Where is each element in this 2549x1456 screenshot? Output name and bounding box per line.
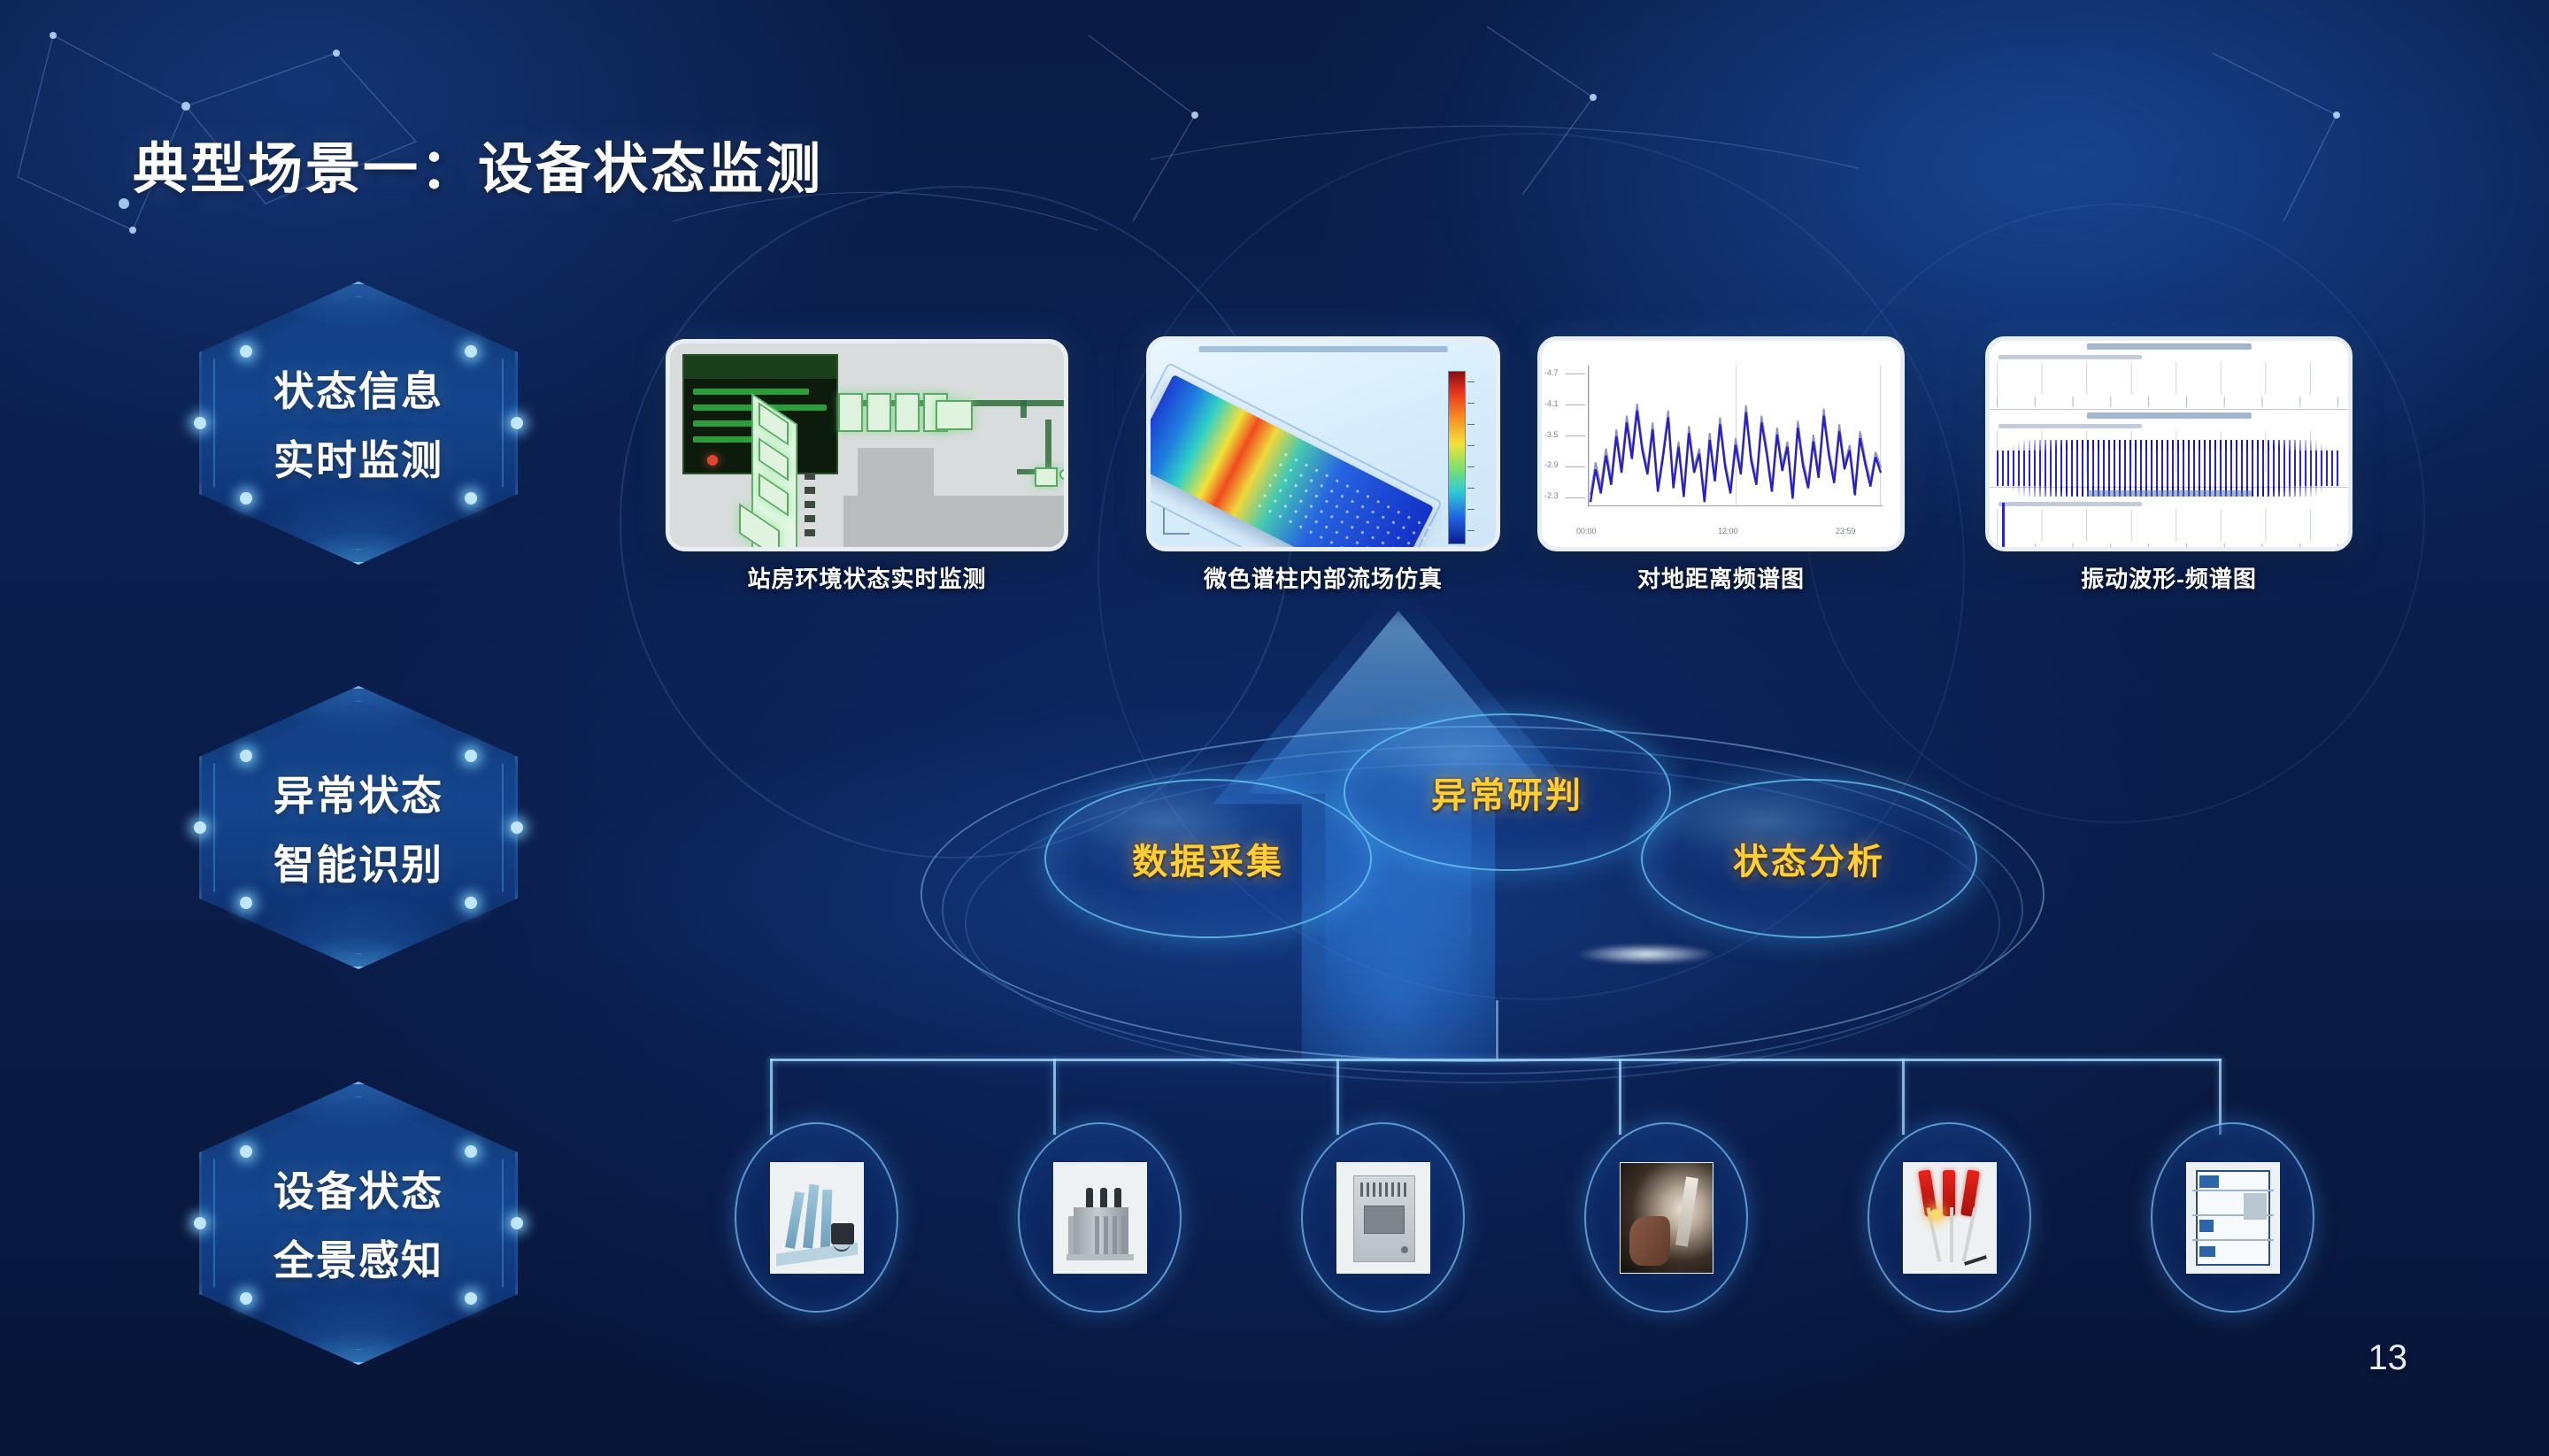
stage-label-line-1: 状态信息: [273, 359, 443, 418]
distribution-panel-photo: [2186, 1162, 2280, 1274]
slide-title: 典型场景一：设备状态监测: [133, 124, 823, 204]
stage-hexagon-2-label: 异常状态 智能识别: [199, 686, 518, 969]
slide-canvas: 典型场景一：设备状态监测 状态信息 实时监测 异常状态 智能识别: [0, 0, 2549, 1456]
spectrum-trace: [1589, 366, 1883, 538]
process-bubble-status-analysis[interactable]: 状态分析: [1641, 779, 1977, 938]
process-bubble-label: 数据采集: [1132, 833, 1284, 884]
hand-inspection-photo: [1620, 1162, 1713, 1274]
stage-hexagon-3[interactable]: 设备状态 全景感知: [199, 1082, 518, 1365]
equipment-node-4[interactable]: [1584, 1122, 1748, 1313]
stage-label-line-2: 全景感知: [273, 1229, 443, 1287]
tree-stem-up: [1496, 1000, 1498, 1059]
spectrum-plot: -4.7 -4.1 -3.5 -2.9 -2.3 00:00 12:00 23:…: [1542, 341, 1900, 547]
thumbnail-caption-1: 站房环境状态实时监测: [666, 561, 1068, 594]
vibration-panel-bottom: [1990, 488, 2348, 551]
stage-label-line-2: 实时监测: [273, 428, 443, 487]
thumbnail-spectrum-chart[interactable]: -4.7 -4.1 -3.5 -2.9 -2.3 00:00 12:00 23:…: [1537, 336, 1905, 551]
vibration-panels: [1990, 341, 2348, 547]
control-cabinet-photo: [1336, 1162, 1430, 1274]
equipment-node-3[interactable]: [1301, 1122, 1465, 1313]
equipment-tree-connector: [770, 1059, 2222, 1147]
thumbnail-vibration-waveform[interactable]: [1985, 336, 2353, 551]
power-transformer-photo: [1053, 1162, 1147, 1274]
equipment-node-6[interactable]: [2151, 1122, 2314, 1313]
vibration-panel-middle: [1990, 410, 2348, 488]
cfd-flow-field-plot: [1151, 341, 1496, 547]
scada-mimic-diagram: [670, 343, 1064, 547]
process-bubble-anomaly-judgement[interactable]: 异常研判: [1344, 713, 1671, 871]
stage-hexagon-1-label: 状态信息 实时监测: [199, 281, 518, 565]
stage-label-line-2: 智能识别: [273, 833, 443, 891]
thumbnail-caption-4: 振动波形-频谱图: [1985, 561, 2353, 594]
page-number: 13: [2368, 1338, 2408, 1378]
thumbnail-cfd-simulation[interactable]: [1146, 336, 1500, 551]
spectrum-plot-area: -4.7 -4.1 -3.5 -2.9 -2.3 00:00 12:00 23:…: [1588, 366, 1883, 506]
process-bubble-data-collection[interactable]: 数据采集: [1044, 779, 1372, 938]
process-bubble-label: 状态分析: [1733, 833, 1885, 884]
instrument-transformer-photo: [770, 1162, 864, 1274]
stage-hexagon-1[interactable]: 状态信息 实时监测: [199, 281, 518, 565]
vibration-panel-top: [1990, 341, 2348, 410]
orbit-highlight: [1575, 944, 1717, 965]
thumbnail-caption-3: 对地距离频谱图: [1537, 561, 1905, 594]
stage-label-line-1: 异常状态: [273, 764, 443, 822]
equipment-node-2[interactable]: [1018, 1122, 1182, 1313]
equipment-node-1[interactable]: [735, 1122, 898, 1313]
cfd-axis-triad-icon: [1163, 508, 1190, 535]
thumbnail-caption-2: 微色谱柱内部流场仿真: [1146, 561, 1500, 594]
stage-hexagon-3-label: 设备状态 全景感知: [199, 1082, 518, 1365]
cfd-colorbar: [1448, 371, 1466, 544]
red-test-clips-photo: [1903, 1162, 1997, 1274]
stage-hexagon-2[interactable]: 异常状态 智能识别: [199, 686, 518, 969]
cfd-title-bar: [1199, 346, 1448, 352]
tree-horizontal-bar: [770, 1059, 2222, 1061]
stage-label-line-1: 设备状态: [273, 1159, 443, 1218]
equipment-node-5[interactable]: [1867, 1122, 2031, 1313]
thumbnail-scada-substation[interactable]: [666, 339, 1068, 551]
process-bubble-label: 异常研判: [1431, 767, 1583, 818]
